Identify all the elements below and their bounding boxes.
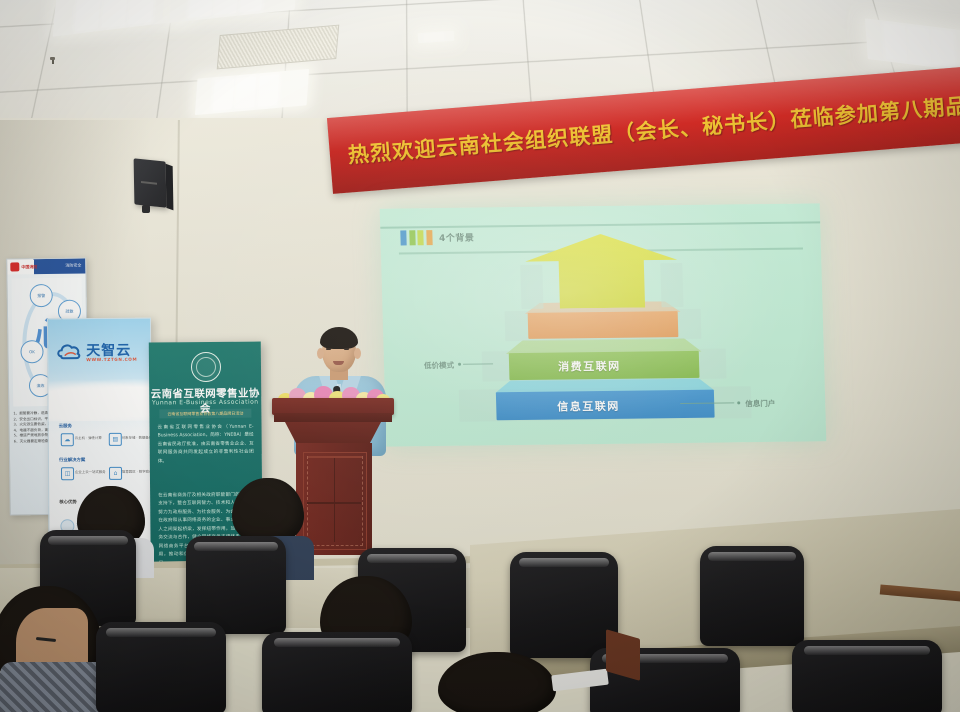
callout-right-dot: [737, 401, 740, 404]
fire-logo-icon: [10, 262, 19, 271]
cloud-icon: [56, 341, 82, 361]
auditorium-chair: [700, 546, 804, 646]
storage-icon: ▤: [109, 433, 122, 446]
presenter-ear-left: [317, 348, 324, 359]
wall-speaker-icon: [134, 158, 167, 207]
association-subtitle: Yunnan E-Business Association: [149, 399, 261, 407]
podium-taper: [285, 422, 381, 444]
city-icon: ⌂: [109, 467, 122, 480]
auditorium-chair: [96, 622, 226, 712]
projection-screen: 4个背景 信息互联网 消费互联网: [380, 203, 827, 446]
features-heading: 核心优势: [59, 499, 77, 505]
rollup-item: 智慧园区 · 数字政务: [122, 470, 152, 475]
poster-header: 中国消防 消防安全: [7, 258, 85, 274]
presenter-eye-right: [344, 348, 349, 350]
association-emblem-icon: [191, 352, 221, 382]
blue-layer-label: 信息互联网: [557, 398, 620, 415]
callout-left-dot: [458, 363, 461, 366]
auditorium-chair: [262, 632, 412, 712]
callout-left-label: 低价模式: [424, 360, 454, 371]
association-event-strip: 云南省互联网零售业协会第八期品牌日活动: [159, 409, 251, 419]
brand-url: WWW.TZTGN.COM: [86, 357, 137, 362]
rollup-item: 云主机 · 弹性计算: [75, 436, 102, 441]
rollup-section-heading: 云服务: [59, 423, 72, 429]
server-icon: ☁: [61, 433, 74, 446]
arrow-right-pillar: [660, 263, 683, 307]
presenter-mouth: [333, 361, 344, 365]
presenter-eye-left: [326, 348, 331, 350]
association-paragraph-1: 云南省互联网零售业协会（Yunnan E-Business Associatio…: [157, 424, 253, 467]
podium-panel-divider-horizontal: [307, 502, 361, 504]
sprinkler-head: [50, 57, 55, 60]
conference-hall-photo: 热烈欢迎云南社会组织联盟（会长、秘书长）莅临参加第八期品牌日活动 4个背景: [0, 0, 960, 712]
poster-logo-text: 中国消防: [21, 264, 37, 270]
rollup-cloud-graphic: [47, 379, 153, 422]
podium-ridge: [308, 456, 362, 458]
rollup-item: 对象存储 · 数据备份: [122, 436, 152, 441]
slide-canvas: 4个背景 信息互联网 消费互联网: [380, 203, 827, 446]
rollup-section-heading: 行业解决方案: [59, 457, 85, 463]
presenter-ear-right: [354, 348, 361, 359]
speaker-bracket: [142, 205, 150, 213]
auditorium-chair: [510, 552, 618, 658]
podium-panel-divider-vertical: [334, 458, 336, 542]
rollup-item: 企业上云一站式服务: [75, 470, 106, 475]
green-layer-label: 消费互联网: [558, 358, 621, 375]
orange-layer-face: [528, 311, 679, 339]
auditorium-chair: [186, 536, 286, 634]
arrow-top-shape: [524, 233, 678, 309]
audience-head: [232, 478, 304, 544]
poster-header-tag: 消防安全: [65, 263, 81, 269]
pyramid-diagram: 信息互联网 消费互联网 低价模式: [380, 203, 827, 446]
podium-front-panel: [303, 452, 367, 550]
podium-desktop-edge: [274, 413, 392, 422]
auditorium-chair: [792, 640, 942, 712]
arrow-left-pillar: [520, 265, 543, 309]
callout-right-label: 信息门户: [745, 398, 775, 409]
solution-icon: ◫: [61, 467, 74, 480]
